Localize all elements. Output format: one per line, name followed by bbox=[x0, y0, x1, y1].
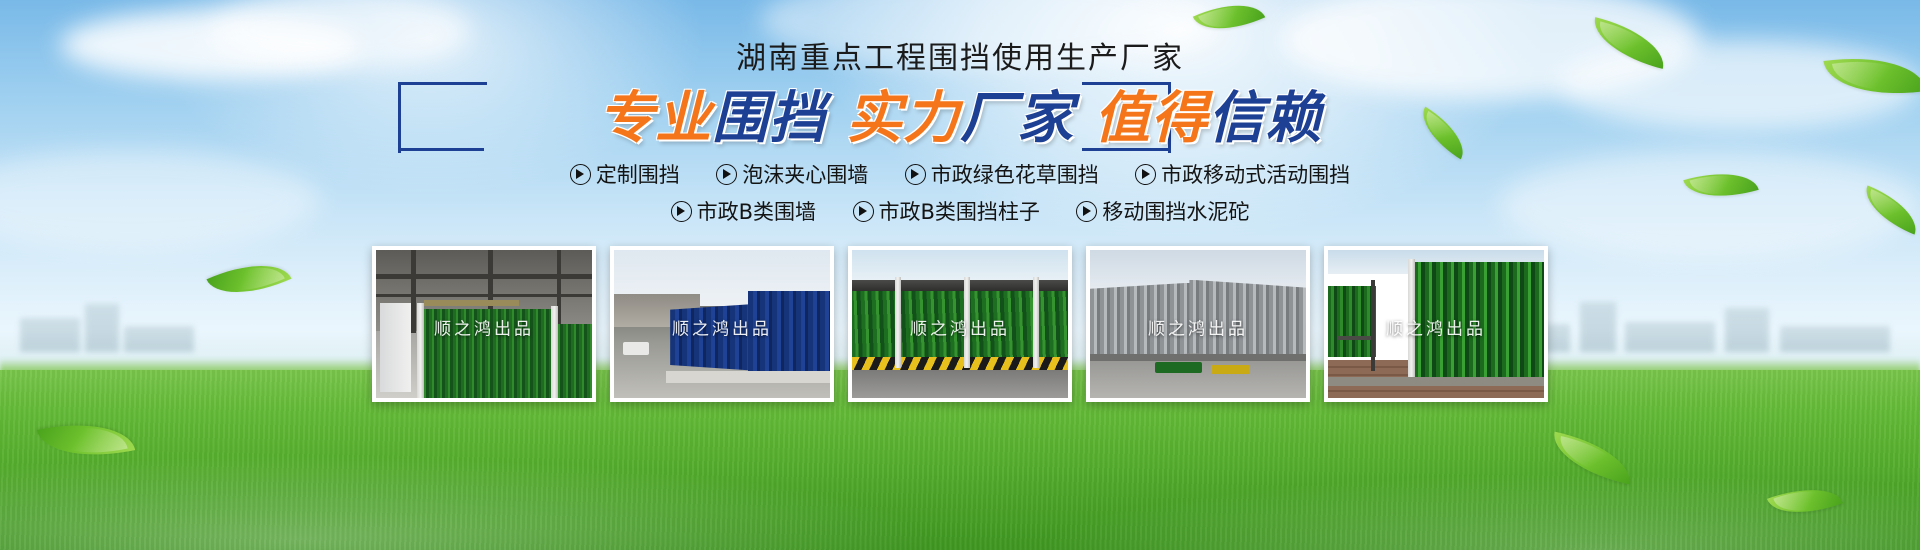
photo-watermark: 顺之鸿出品 bbox=[1328, 314, 1544, 339]
photo-image: 顺之鸿出品 bbox=[1090, 250, 1306, 398]
feature-item: 移动围挡水泥砣 bbox=[1076, 197, 1249, 227]
title-segment-4: 厂家 bbox=[960, 88, 1074, 150]
play-circle-icon bbox=[570, 164, 591, 185]
feature-item: 市政移动式活动围挡 bbox=[1135, 160, 1350, 190]
photo-watermark: 顺之鸿出品 bbox=[1090, 314, 1306, 339]
feature-row-2: 市政B类围墙 市政B类围挡柱子 移动围挡水泥砣 bbox=[0, 197, 1920, 230]
feature-label: 市政移动式活动围挡 bbox=[1161, 163, 1350, 187]
headline-block: 湖南重点工程围挡使用生产厂家 专业围挡实力厂家值得信赖 bbox=[0, 44, 1920, 150]
feature-item: 市政B类围墙 bbox=[671, 197, 816, 227]
hero-banner: 湖南重点工程围挡使用生产厂家 专业围挡实力厂家值得信赖 定制围挡 泡沫夹心围墙 … bbox=[0, 0, 1920, 550]
feature-item: 定制围挡 bbox=[570, 160, 680, 190]
play-circle-icon bbox=[853, 201, 874, 222]
photo-image: 顺之鸿出品 bbox=[852, 250, 1068, 398]
product-photo[interactable]: 顺之鸿出品 bbox=[372, 246, 596, 402]
photo-image: 顺之鸿出品 bbox=[1328, 250, 1544, 398]
feature-label: 市政B类围挡柱子 bbox=[879, 200, 1040, 224]
feature-item: 市政B类围挡柱子 bbox=[853, 197, 1040, 227]
feature-label: 市政B类围墙 bbox=[697, 200, 816, 224]
feature-row-1: 定制围挡 泡沫夹心围墙 市政绿色花草围挡 市政移动式活动围挡 bbox=[0, 160, 1920, 193]
play-circle-icon bbox=[716, 164, 737, 185]
product-photo[interactable]: 顺之鸿出品 bbox=[1086, 246, 1310, 402]
feature-label: 市政绿色花草围挡 bbox=[931, 163, 1099, 187]
product-photo[interactable]: 顺之鸿出品 bbox=[848, 246, 1072, 402]
product-photo[interactable]: 顺之鸿出品 bbox=[610, 246, 834, 402]
feature-label: 移动围挡水泥砣 bbox=[1102, 200, 1249, 224]
title-segment-3: 实力 bbox=[846, 88, 960, 150]
feature-label: 定制围挡 bbox=[596, 163, 680, 187]
photo-watermark: 顺之鸿出品 bbox=[376, 314, 592, 339]
photo-image: 顺之鸿出品 bbox=[614, 250, 830, 398]
play-circle-icon bbox=[905, 164, 926, 185]
photo-watermark: 顺之鸿出品 bbox=[614, 314, 830, 339]
feature-item: 泡沫夹心围墙 bbox=[716, 160, 868, 190]
title-segment-2: 围挡 bbox=[712, 88, 826, 150]
product-photo[interactable]: 顺之鸿出品 bbox=[1324, 246, 1548, 402]
feature-label: 泡沫夹心围墙 bbox=[742, 163, 868, 187]
banner-main-title: 专业围挡实力厂家值得信赖 bbox=[0, 88, 1920, 150]
play-circle-icon bbox=[1076, 201, 1097, 222]
feature-item: 市政绿色花草围挡 bbox=[905, 160, 1099, 190]
photo-watermark: 顺之鸿出品 bbox=[852, 314, 1068, 339]
play-circle-icon bbox=[1135, 164, 1156, 185]
photo-image: 顺之鸿出品 bbox=[376, 250, 592, 398]
play-circle-icon bbox=[671, 201, 692, 222]
title-segment-1: 专业 bbox=[598, 88, 712, 150]
feature-list: 定制围挡 泡沫夹心围墙 市政绿色花草围挡 市政移动式活动围挡 市政B类围墙 市政… bbox=[0, 160, 1920, 234]
product-photo-strip: 顺之鸿出品 顺之鸿出品 bbox=[0, 246, 1920, 402]
title-segment-6: 信赖 bbox=[1208, 88, 1322, 150]
title-segment-5: 值得 bbox=[1094, 88, 1208, 150]
